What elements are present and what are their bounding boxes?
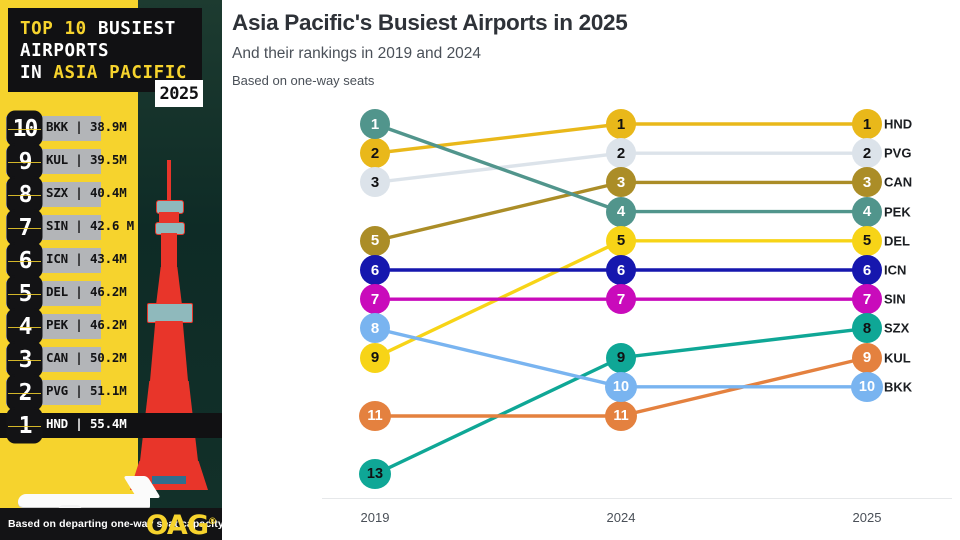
series-end-label-pek: PEK (884, 204, 911, 219)
poster-rank-number: 4 (8, 310, 41, 343)
registered-mark-icon: ® (208, 517, 216, 527)
rank-node-del-2024[interactable]: 5 (606, 226, 636, 256)
series-end-label-pvg: PVG (884, 146, 911, 161)
poster-rank-label: HND | 55.4M (46, 416, 127, 431)
chart-panel: Asia Pacific's Busiest Airports in 2025 … (222, 0, 960, 540)
rank-node-can-2025[interactable]: 3 (852, 167, 882, 197)
series-end-label-kul: KUL (884, 350, 911, 365)
rank-node-kul-2019[interactable]: 11 (359, 401, 391, 431)
poster-rank-label: PVG | 51.1M (46, 383, 127, 398)
rank-node-pek-2025[interactable]: 4 (852, 197, 882, 227)
poster-rank-number: 7 (8, 211, 41, 244)
rank-node-sin-2024[interactable]: 7 (606, 284, 636, 314)
rank-node-icn-2025[interactable]: 6 (852, 255, 882, 285)
bump-line-segment (375, 182, 621, 240)
series-end-label-can: CAN (884, 175, 912, 190)
poster-rank-number: 6 (8, 244, 41, 277)
x-axis-label-2024: 2024 (607, 510, 636, 525)
poster-rank-label: PEK | 46.2M (46, 317, 127, 332)
rank-node-pvg-2019[interactable]: 3 (360, 167, 390, 197)
poster-rank-number: 9 (8, 145, 41, 178)
rank-node-sin-2025[interactable]: 7 (852, 284, 882, 314)
poster-title-line3-rest: IN (20, 63, 53, 83)
rank-node-pvg-2024[interactable]: 2 (606, 138, 636, 168)
bump-line-segment (375, 328, 621, 386)
poster-rank-label: KUL | 39.5M (46, 152, 127, 167)
poster-rank-number: 5 (8, 277, 41, 310)
rank-node-hnd-2024[interactable]: 1 (606, 109, 636, 139)
poster-rank-row: 1HND | 55.4M (0, 409, 222, 442)
poster-rank-label: CAN | 50.2M (46, 350, 127, 365)
poster-footer-bar: Based on departing one-way seat capacity… (0, 508, 222, 540)
rank-node-can-2019[interactable]: 5 (360, 226, 390, 256)
rank-node-szx-2019[interactable]: 13 (359, 459, 391, 489)
poster-title-line1-highlight: TOP 10 (20, 19, 87, 39)
rank-node-bkk-2025[interactable]: 10 (851, 372, 883, 402)
series-end-label-icn: ICN (884, 263, 906, 278)
poster-rank-number: 2 (8, 376, 41, 409)
rank-node-hnd-2025[interactable]: 1 (852, 109, 882, 139)
rank-node-del-2019[interactable]: 9 (360, 343, 390, 373)
rank-node-szx-2025[interactable]: 8 (852, 313, 882, 343)
poster-rank-number: 1 (8, 409, 41, 442)
poster-panel: TOP 10 BUSIEST AIRPORTS IN ASIA PACIFIC … (0, 0, 222, 540)
poster-rank-row: 7SIN | 42.6 M (0, 211, 222, 244)
poster-rank-row: 6ICN | 43.4M (0, 244, 222, 277)
poster-rank-row: 5DEL | 46.2M (0, 277, 222, 310)
rank-node-kul-2025[interactable]: 9 (852, 343, 882, 373)
rank-node-del-2025[interactable]: 5 (852, 226, 882, 256)
bump-chart-lines (222, 0, 960, 540)
series-end-label-sin: SIN (884, 292, 906, 307)
bump-chart-plot: 211HND322PVG533CAN144PEK955DEL666ICN777S… (222, 0, 960, 540)
rank-node-szx-2024[interactable]: 9 (606, 343, 636, 373)
poster-rank-number: 3 (8, 343, 41, 376)
poster-ranking-list: 10BKK | 38.9M9KUL | 39.5M8SZX | 40.4M7SI… (0, 112, 222, 442)
poster-rank-number: 8 (8, 178, 41, 211)
oag-logo: OAG® (146, 510, 216, 540)
rank-node-can-2024[interactable]: 3 (606, 167, 636, 197)
poster-title-line2: AIRPORTS (20, 41, 109, 61)
x-axis-rule (322, 498, 952, 499)
rank-node-pek-2024[interactable]: 4 (606, 197, 636, 227)
poster-rank-label: SIN | 42.6 M (46, 218, 134, 233)
poster-rank-number: 10 (8, 112, 41, 145)
poster-rank-row: 2PVG | 51.1M (0, 376, 222, 409)
series-end-label-del: DEL (884, 233, 910, 248)
infographic-screen: TOP 10 BUSIEST AIRPORTS IN ASIA PACIFIC … (0, 0, 960, 540)
poster-title-line1-rest: BUSIEST (87, 19, 176, 39)
rank-node-icn-2019[interactable]: 6 (360, 255, 390, 285)
poster-rank-row: 10BKK | 38.9M (0, 112, 222, 145)
poster-rank-label: DEL | 46.2M (46, 284, 127, 299)
poster-rank-row: 3CAN | 50.2M (0, 343, 222, 376)
poster-rank-label: BKK | 38.9M (46, 119, 127, 134)
rank-node-bkk-2024[interactable]: 10 (605, 372, 637, 402)
series-end-label-bkk: BKK (884, 379, 912, 394)
poster-title: TOP 10 BUSIEST AIRPORTS IN ASIA PACIFIC (20, 18, 200, 84)
poster-rank-label: ICN | 43.4M (46, 251, 127, 266)
rank-node-kul-2024[interactable]: 11 (605, 401, 637, 431)
x-axis-label-2025: 2025 (853, 510, 882, 525)
oag-logo-text: OAG (146, 510, 208, 540)
poster-rank-row: 8SZX | 40.4M (0, 178, 222, 211)
bump-line-segment (621, 328, 867, 357)
poster-rank-label: SZX | 40.4M (46, 185, 127, 200)
rank-node-icn-2024[interactable]: 6 (606, 255, 636, 285)
rank-node-bkk-2019[interactable]: 8 (360, 313, 390, 343)
series-end-label-szx: SZX (884, 321, 909, 336)
series-end-label-hnd: HND (884, 117, 912, 132)
x-axis-label-2019: 2019 (361, 510, 390, 525)
rank-node-hnd-2019[interactable]: 2 (360, 138, 390, 168)
rank-node-pvg-2025[interactable]: 2 (852, 138, 882, 168)
rank-node-sin-2019[interactable]: 7 (360, 284, 390, 314)
rank-node-pek-2019[interactable]: 1 (360, 109, 390, 139)
poster-rank-row: 4PEK | 46.2M (0, 310, 222, 343)
poster-year-badge: 2025 (155, 80, 203, 107)
poster-rank-row: 9KUL | 39.5M (0, 145, 222, 178)
